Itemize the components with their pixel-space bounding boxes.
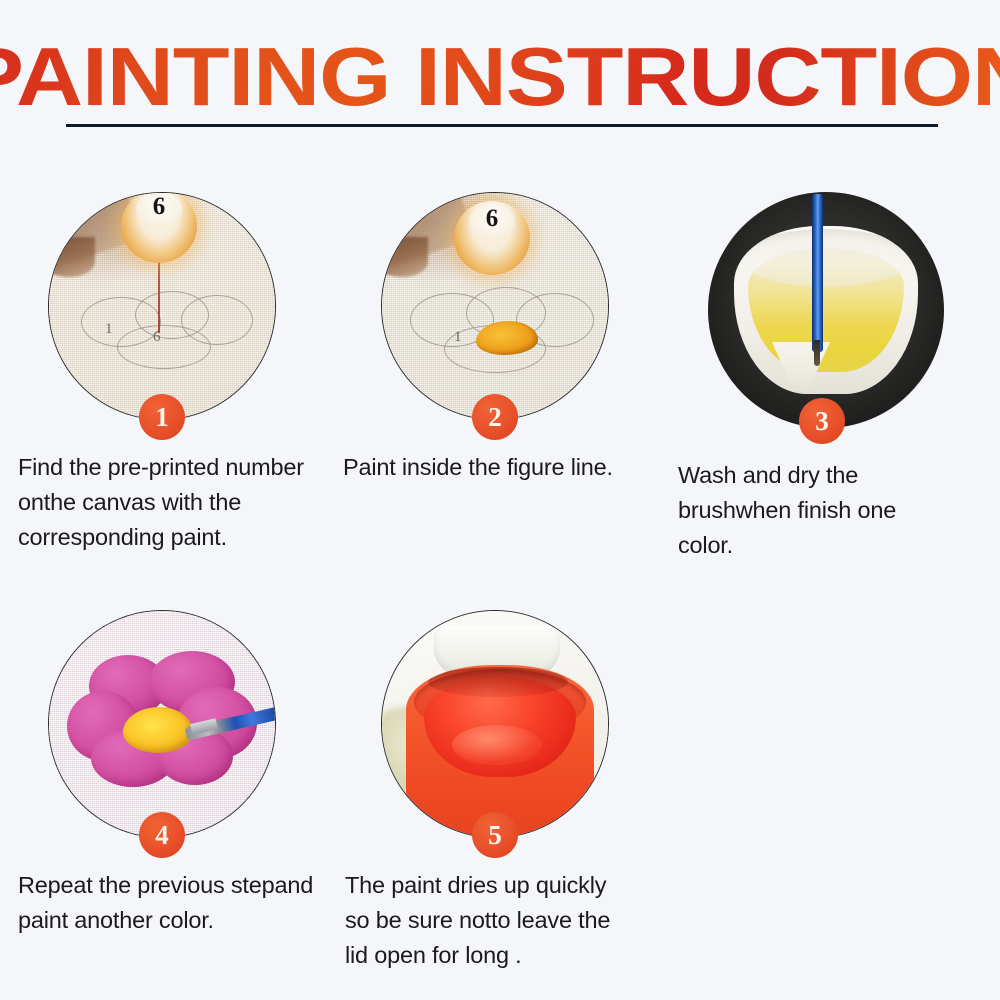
cup-rim <box>740 229 912 287</box>
flower-outline-bottom <box>117 325 211 369</box>
steps-row-top: 1 6 6 1 Find the pre-printed number onth… <box>0 192 1000 610</box>
paint-pot-body <box>406 665 594 837</box>
table-edge-lower <box>48 237 95 277</box>
step-card-3: 3 Wash and dry the brushwhen finish one … <box>666 192 999 610</box>
page-title: PAINTING INSTRUCTION <box>0 34 1000 120</box>
step-caption-1: Find the pre-printed number onthe canvas… <box>18 450 308 555</box>
pot-inner-shadow <box>428 667 568 697</box>
steps-row-bottom: 4 Repeat the previous stepand paint anot… <box>0 610 1000 1000</box>
step-caption-5: The paint dries up quickly so be sure no… <box>345 868 635 973</box>
paint-pot-number: 6 <box>121 193 197 221</box>
step-badge-4: 4 <box>139 812 185 858</box>
empty-cell <box>666 610 999 1000</box>
water-cup <box>734 226 918 394</box>
painted-pink-flower-photo <box>48 610 276 838</box>
step-badge-5: 5 <box>472 812 518 858</box>
canvas-with-orange-paint-blob-photo: 1 6 <box>381 192 609 420</box>
open-red-paint-pot-photo <box>381 610 609 838</box>
step-card-1: 1 6 6 1 Find the pre-printed number onth… <box>0 192 333 610</box>
step-badge-2: 2 <box>472 394 518 440</box>
instruction-steps-grid: 1 6 6 1 Find the pre-printed number onth… <box>0 192 1000 1000</box>
paint-pot-number: 6 <box>454 205 530 233</box>
step-card-2: 1 6 2 Paint inside the figure line. <box>333 192 666 610</box>
step-badge-1: 1 <box>139 394 185 440</box>
paint-brush-tip <box>814 340 820 366</box>
step-caption-4: Repeat the previous stepand paint anothe… <box>18 868 318 938</box>
step-caption-2: Paint inside the figure line. <box>343 450 633 485</box>
paint-pot: 6 <box>121 192 197 263</box>
orange-paint-blob <box>476 321 538 355</box>
canvas-number-1: 1 <box>105 321 113 338</box>
flower-center <box>123 707 193 753</box>
paint-highlight <box>452 725 542 765</box>
table-edge-lower <box>381 237 428 277</box>
step-card-5: 5 The paint dries up quickly so be sure … <box>333 610 666 1000</box>
canvas-with-numbered-paint-pot-photo: 1 6 6 <box>48 192 276 420</box>
paint-pot: 6 <box>454 201 530 275</box>
step-caption-3: Wash and dry the brushwhen finish one co… <box>678 458 928 563</box>
canvas-number-1: 1 <box>454 329 462 346</box>
brush-rinsing-in-water-cup-photo <box>708 192 944 428</box>
page-header: PAINTING INSTRUCTION <box>0 34 1000 120</box>
title-underline-divider <box>66 124 938 127</box>
step-badge-3: 3 <box>799 398 845 444</box>
step-card-4: 4 Repeat the previous stepand paint anot… <box>0 610 333 1000</box>
paint-brush-handle <box>812 194 823 352</box>
